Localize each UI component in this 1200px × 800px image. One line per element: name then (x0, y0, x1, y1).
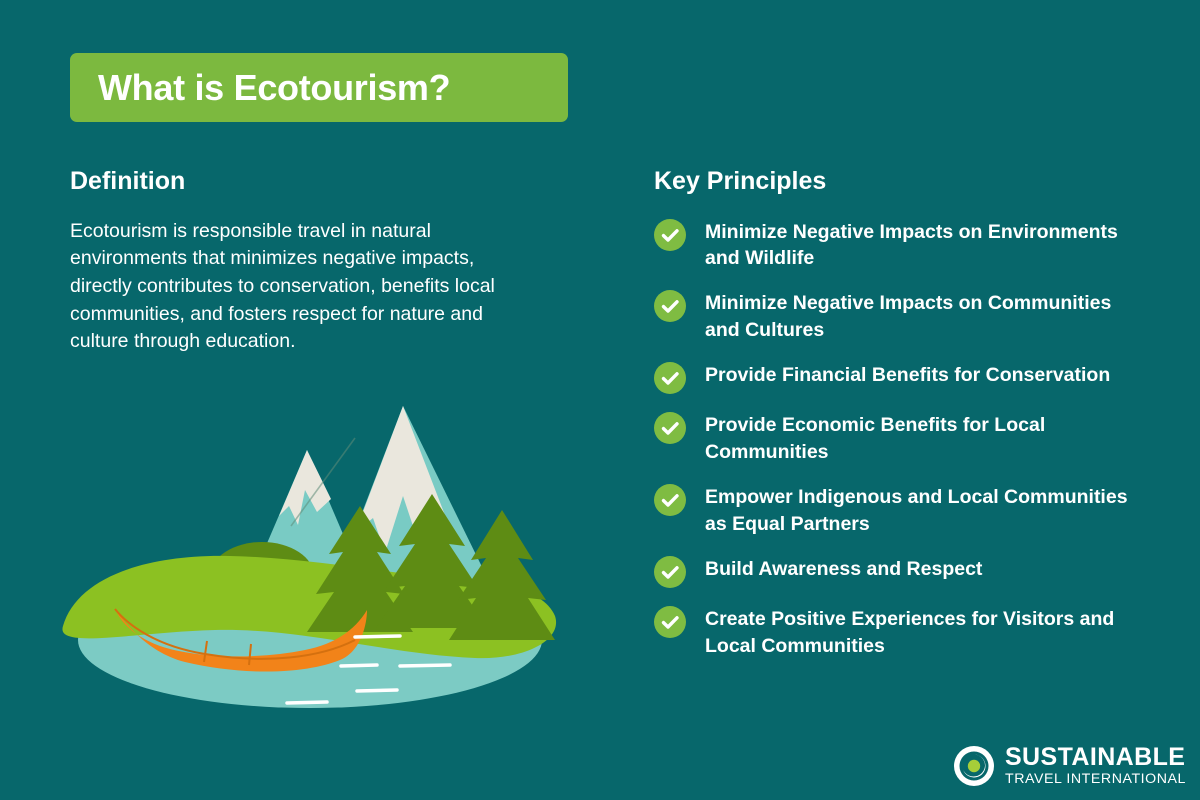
check-circle-icon (654, 556, 686, 588)
principle-label: Create Positive Experiences for Visitors… (705, 605, 1134, 660)
logo-primary-text: SUSTAINABLE (1005, 745, 1186, 770)
title-banner: What is Ecotourism? (70, 53, 568, 122)
mountain-lake-canoe-illustration (55, 378, 575, 708)
logo-wordmark: SUSTAINABLE TRAVEL INTERNATIONAL (1005, 745, 1186, 788)
principle-label: Provide Financial Benefits for Conservat… (705, 361, 1110, 389)
principle-item: Build Awareness and Respect (654, 555, 1134, 588)
check-circle-icon (654, 606, 686, 638)
principle-item: Empower Indigenous and Local Communities… (654, 483, 1134, 538)
page-title: What is Ecotourism? (98, 70, 450, 106)
principle-item: Minimize Negative Impacts on Environment… (654, 218, 1134, 273)
principle-label: Build Awareness and Respect (705, 555, 982, 583)
check-circle-icon (654, 362, 686, 394)
key-principles-section: Key Principles Minimize Negative Impacts… (654, 168, 1134, 677)
logo-secondary-text: TRAVEL INTERNATIONAL (1005, 772, 1186, 788)
brand-logo: SUSTAINABLE TRAVEL INTERNATIONAL (952, 744, 1186, 788)
check-circle-icon (654, 484, 686, 516)
principle-item: Minimize Negative Impacts on Communities… (654, 289, 1134, 344)
check-circle-icon (654, 219, 686, 251)
sustainable-travel-spiral-logo-icon (952, 744, 996, 788)
principles-list: Minimize Negative Impacts on Environment… (654, 218, 1134, 660)
check-circle-icon (654, 290, 686, 322)
definition-section: Definition Ecotourism is responsible tra… (70, 168, 570, 356)
principle-item: Provide Financial Benefits for Conservat… (654, 361, 1134, 394)
principle-label: Minimize Negative Impacts on Communities… (705, 289, 1134, 344)
principle-item: Provide Economic Benefits for Local Comm… (654, 411, 1134, 466)
check-circle-icon (654, 412, 686, 444)
principle-label: Empower Indigenous and Local Communities… (705, 483, 1134, 538)
definition-heading: Definition (70, 168, 570, 196)
key-principles-heading: Key Principles (654, 168, 1134, 196)
principle-item: Create Positive Experiences for Visitors… (654, 605, 1134, 660)
definition-body-text: Ecotourism is responsible travel in natu… (70, 218, 500, 356)
principle-label: Provide Economic Benefits for Local Comm… (705, 411, 1134, 466)
principle-label: Minimize Negative Impacts on Environment… (705, 218, 1134, 273)
